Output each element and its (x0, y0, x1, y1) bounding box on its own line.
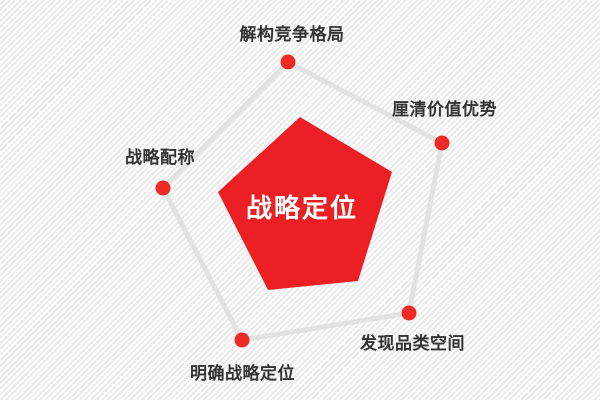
vertex-label-bottom-left: 明确战略定位 (190, 364, 295, 384)
vertex-dot-icon-right-top[interactable] (435, 136, 450, 151)
vertex-label-right-bottom: 发现品类空间 (360, 334, 465, 354)
diagram-canvas: 解构竞争格局 厘清价值优势 发现品类空间 明确战略定位 战略配称 战略定位 (0, 0, 600, 400)
vertex-label-top: 解构竞争格局 (240, 25, 345, 45)
vertex-label-right-top: 厘清价值优势 (392, 100, 497, 120)
vertex-dot-icon-bottom-left[interactable] (235, 333, 250, 348)
vertex-dot-icon-right-bottom[interactable] (402, 306, 417, 321)
vertex-dot-icon-left[interactable] (156, 181, 171, 196)
vertex-label-left: 战略配称 (125, 148, 195, 168)
vertex-dot-icon-top[interactable] (281, 55, 296, 70)
center-label: 战略定位 (246, 194, 358, 224)
